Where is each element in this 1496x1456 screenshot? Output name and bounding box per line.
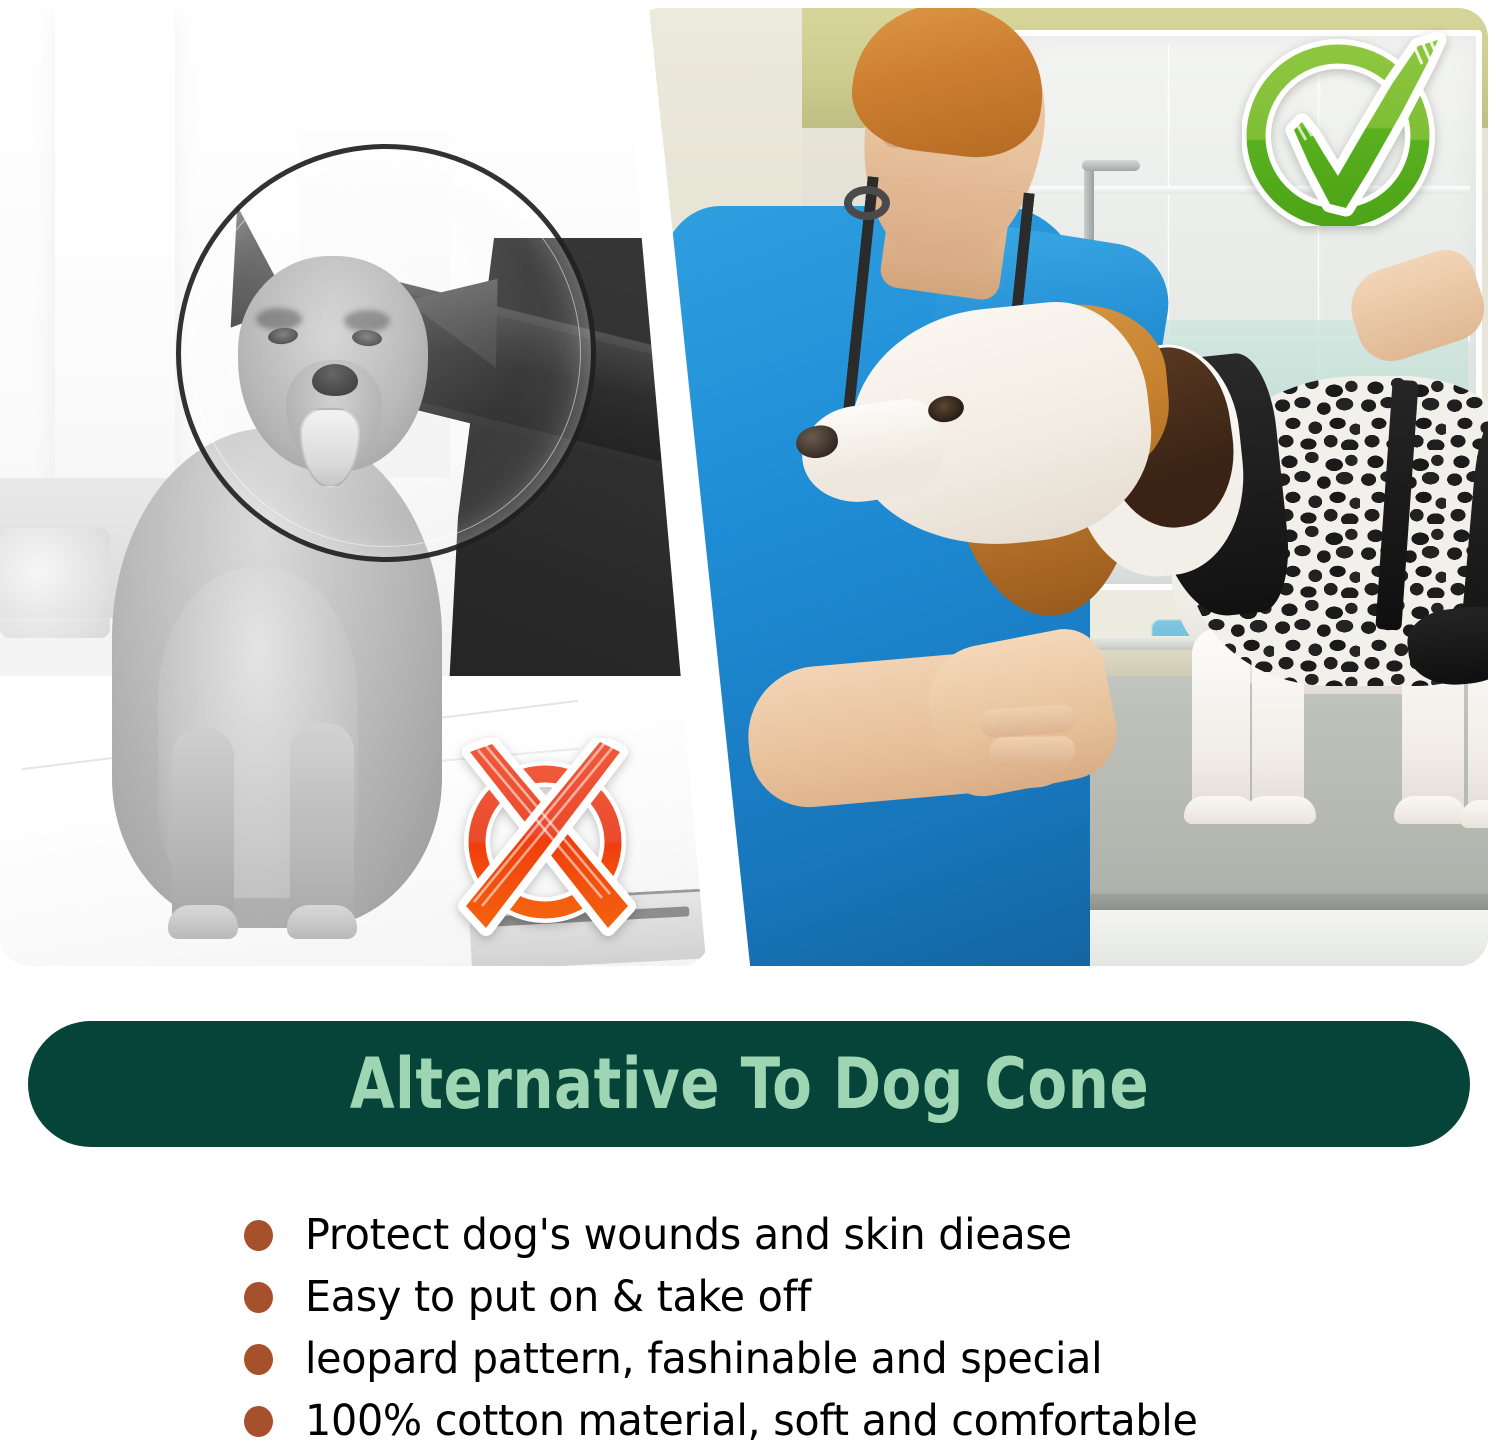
feature-label: 100% cotton material, soft and comfortab… — [305, 1400, 1198, 1443]
feature-label: leopard pattern, fashinable and special — [305, 1338, 1102, 1381]
feature-label: Easy to put on & take off — [305, 1276, 811, 1319]
product-infographic: Alternative To Dog Cone Protect dog's wo… — [0, 0, 1496, 1456]
list-item: 100% cotton material, soft and comfortab… — [244, 1391, 1474, 1451]
check-icon — [1242, 26, 1452, 226]
bullet-dot-icon — [244, 1344, 273, 1375]
bullet-dot-icon — [244, 1406, 273, 1437]
shepherd-front-leg-left — [172, 728, 234, 933]
cross-icon — [452, 738, 638, 938]
list-item: Easy to put on & take off — [244, 1267, 1474, 1327]
bottles — [0, 528, 110, 638]
comparison-photo-row — [0, 0, 1496, 980]
headline-banner: Alternative To Dog Cone — [28, 1021, 1470, 1147]
list-item: leopard pattern, fashinable and special — [244, 1329, 1474, 1389]
shepherd-paw-right — [287, 905, 357, 939]
bullet-dot-icon — [244, 1282, 273, 1313]
stethoscope-earpiece — [844, 186, 890, 220]
feature-list: Protect dog's wounds and skin diease Eas… — [244, 1205, 1474, 1453]
beagle-paw — [1394, 796, 1466, 824]
shepherd-front-leg-right — [290, 723, 354, 933]
list-item: Protect dog's wounds and skin diease — [244, 1205, 1474, 1265]
vet-finger — [989, 736, 1075, 765]
beagle-paw — [1244, 796, 1316, 824]
feature-label: Protect dog's wounds and skin diease — [305, 1214, 1072, 1257]
bullet-dot-icon — [244, 1220, 273, 1251]
vet-finger — [979, 704, 1077, 739]
headline-text: Alternative To Dog Cone — [349, 1049, 1148, 1119]
shepherd-paw-left — [168, 905, 238, 939]
